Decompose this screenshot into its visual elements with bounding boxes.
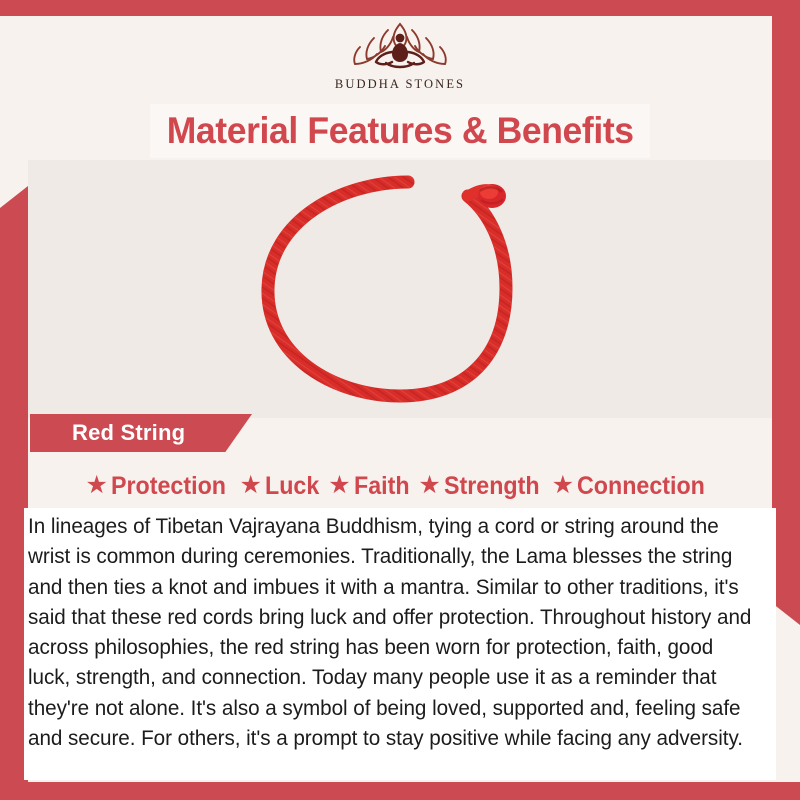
frame-bottom-bar bbox=[0, 782, 800, 800]
ribbon-label: Red String bbox=[72, 420, 185, 446]
benefit-label: Luck bbox=[265, 472, 319, 501]
lotus-meditation-icon bbox=[336, 16, 464, 76]
star-icon: ★ bbox=[85, 473, 107, 498]
benefit-item: ★ Faith bbox=[328, 472, 413, 501]
benefit-label: Strength bbox=[444, 472, 540, 501]
bracelet-knot bbox=[478, 184, 506, 208]
benefit-item: ★ Connection bbox=[552, 472, 715, 501]
star-icon: ★ bbox=[552, 473, 574, 498]
red-braided-bracelet-image bbox=[230, 160, 570, 418]
frame-top-bar bbox=[0, 0, 800, 16]
star-icon: ★ bbox=[418, 473, 440, 498]
benefit-item: ★ Protection bbox=[85, 472, 234, 501]
brand-name: BUDDHA STONES bbox=[335, 77, 465, 92]
benefit-item: ★ Strength bbox=[418, 472, 546, 501]
benefit-label: Protection bbox=[111, 472, 226, 501]
star-icon: ★ bbox=[240, 473, 262, 498]
benefits-row: ★ Protection ★ Luck ★ Faith ★ Strength ★… bbox=[28, 465, 772, 507]
description-block: In lineages of Tibetan Vajrayana Buddhis… bbox=[24, 508, 776, 780]
brand-header: BUDDHA STONES bbox=[0, 16, 800, 100]
page-title: Material Features & Benefits bbox=[167, 110, 634, 152]
infographic-poster: BUDDHA STONES Material Features & Benefi… bbox=[0, 0, 800, 800]
benefit-label: Faith bbox=[354, 472, 410, 501]
title-banner: Material Features & Benefits bbox=[150, 104, 650, 158]
red-string-ribbon: Red String bbox=[30, 414, 252, 452]
benefit-item: ★ Luck bbox=[240, 472, 324, 501]
benefit-label: Connection bbox=[577, 472, 705, 501]
star-icon: ★ bbox=[328, 473, 350, 498]
description-paragraph: In lineages of Tibetan Vajrayana Buddhis… bbox=[28, 512, 751, 754]
product-photo bbox=[28, 160, 772, 418]
